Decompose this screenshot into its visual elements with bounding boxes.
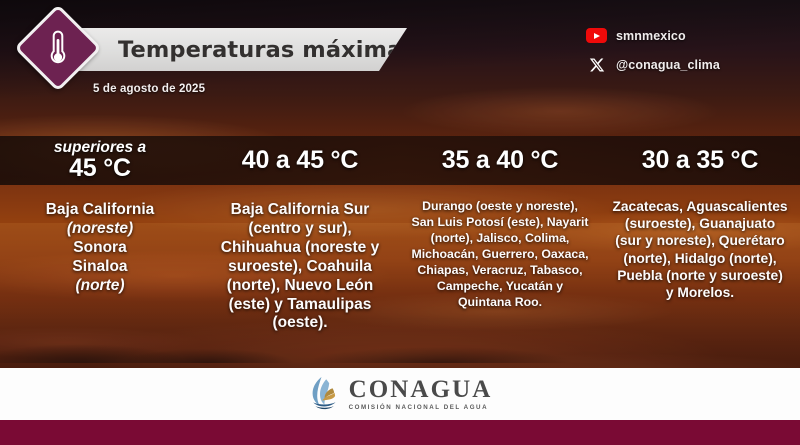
state-line: Baja California (46, 201, 155, 220)
youtube-icon (586, 28, 607, 43)
state-line: Sonora (46, 239, 155, 258)
temperature-column-1: superiores a 45 °C Baja California (nore… (0, 136, 200, 361)
temperature-column-3: 35 a 40 °C Durango (oeste y noreste), Sa… (400, 136, 600, 361)
state-name: Sinaloa (72, 258, 127, 275)
state-name: Sonora (73, 239, 126, 256)
column-2-heading: 40 a 45 °C (242, 136, 358, 185)
column-2-range-value: 40 a 45 °C (242, 148, 358, 173)
column-4-states: Zacatecas, Aguascalientes (suroeste), Gu… (606, 185, 794, 301)
column-2-states: Baja California Sur (centro y sur), Chih… (202, 185, 398, 333)
state-qualifier: (norte) (46, 277, 155, 296)
social-item-youtube[interactable]: smnmexico (586, 24, 776, 47)
header: Temperaturas máximas 5 de agosto de 2025… (0, 0, 800, 122)
conagua-subtitle: COMISIÓN NACIONAL DEL AGUA (349, 405, 493, 411)
conagua-wordmark: CONAGUA (349, 377, 493, 402)
conagua-eagle-water-icon (308, 375, 340, 413)
temperature-columns: superiores a 45 °C Baja California (nore… (0, 136, 800, 361)
page-title: Temperaturas máximas (118, 37, 416, 63)
column-4-heading: 30 a 35 °C (642, 136, 758, 185)
column-3-states: Durango (oeste y noreste), San Luis Poto… (405, 185, 595, 311)
footer-accent-bar (0, 420, 800, 445)
column-4-range-value: 30 a 35 °C (642, 148, 758, 173)
column-3-heading: 35 a 40 °C (442, 136, 558, 185)
x-twitter-icon (586, 56, 607, 74)
temperature-column-2: 40 a 45 °C Baja California Sur (centro y… (200, 136, 400, 361)
social-links: smnmexico @conagua_clima (586, 24, 776, 82)
date-label: 5 de agosto de 2025 (93, 83, 205, 95)
x-handle: @conagua_clima (616, 58, 720, 72)
state-name: Baja California (46, 201, 155, 218)
conagua-logo: CONAGUA COMISIÓN NACIONAL DEL AGUA (308, 375, 493, 413)
title-banner: Temperaturas máximas (62, 28, 407, 71)
footer: CONAGUA COMISIÓN NACIONAL DEL AGUA (0, 368, 800, 420)
thermometer-icon (27, 17, 89, 79)
column-1-states: Baja California (noreste) Sonora Sinaloa… (40, 185, 161, 296)
infographic-poster: Temperaturas máximas 5 de agosto de 2025… (0, 0, 800, 445)
state-qualifier: (noreste) (46, 220, 155, 239)
column-1-range-prefix: superiores a (54, 140, 146, 156)
column-1-heading: superiores a 45 °C (54, 136, 146, 185)
youtube-handle: smnmexico (616, 29, 686, 43)
column-3-range-value: 35 a 40 °C (442, 148, 558, 173)
temperature-column-4: 30 a 35 °C Zacatecas, Aguascalientes (su… (600, 136, 800, 361)
column-1-range-value: 45 °C (69, 156, 131, 181)
conagua-logo-text: CONAGUA COMISIÓN NACIONAL DEL AGUA (349, 377, 493, 411)
state-line: Sinaloa (46, 258, 155, 277)
social-item-x[interactable]: @conagua_clima (586, 53, 776, 76)
